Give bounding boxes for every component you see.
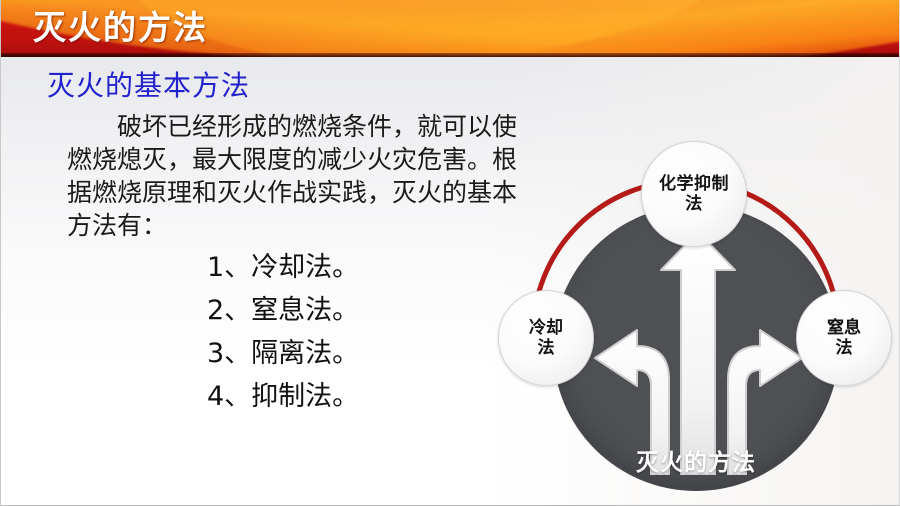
page-title: 灭火的方法 xyxy=(33,5,208,50)
body-paragraph: 破坏已经形成的燃烧条件，就可以使燃烧熄灭，最大限度的减少火灾危害。根据燃烧原理和… xyxy=(67,110,537,242)
list-item: 3、隔离法。 xyxy=(207,332,359,375)
section-subtitle: 灭火的基本方法 xyxy=(47,66,250,106)
list-item: 4、抑制法。 xyxy=(207,375,359,418)
methods-list: 1、冷却法。 2、窒息法。 3、隔离法。 4、抑制法。 xyxy=(207,246,359,418)
list-item: 2、窒息法。 xyxy=(207,289,359,332)
node-cooling[interactable]: 冷却 法 xyxy=(498,290,594,386)
node-suffocation-line2: 法 xyxy=(827,338,861,358)
node-cooling-line1: 冷却 xyxy=(529,318,563,338)
slide: 灭火的方法 灭火的基本方法 破坏已经形成的燃烧条件，就可以使燃烧熄灭，最大限度的… xyxy=(0,0,900,506)
node-suffocation[interactable]: 窒息 法 xyxy=(796,290,892,386)
fire-extinguish-methods-diagram: 灭火的方法 化学抑制 法 冷却 法 窒息 法 xyxy=(471,110,900,506)
node-chemical-inhibition-line1: 化学抑制 xyxy=(659,174,729,194)
node-chemical-inhibition[interactable]: 化学抑制 法 xyxy=(641,141,747,247)
node-chemical-inhibition-line2: 法 xyxy=(659,194,729,214)
node-suffocation-line1: 窒息 xyxy=(827,318,861,338)
three-way-arrow-icon xyxy=(581,230,816,475)
banner-bottom-shadow xyxy=(1,53,900,57)
node-cooling-line2: 法 xyxy=(529,338,563,358)
diagram-center-label: 灭火的方法 xyxy=(553,443,839,477)
list-item: 1、冷却法。 xyxy=(207,246,359,289)
